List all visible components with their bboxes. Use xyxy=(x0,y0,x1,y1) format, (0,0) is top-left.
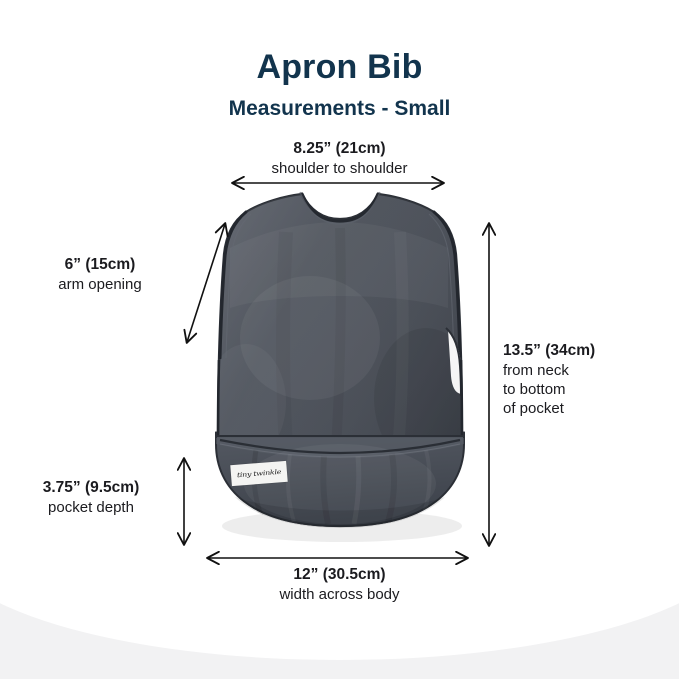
measurement-desc-width: width across body xyxy=(0,585,679,604)
measurement-diagram-page: Apron Bib Measurements - Small xyxy=(0,0,679,679)
measurement-value-arm-opening: 6” (15cm) xyxy=(10,255,190,275)
measurement-desc-neck-line-2: to bottom xyxy=(503,380,673,399)
measurement-desc-neck-line-3: of pocket xyxy=(503,399,673,418)
measurement-label-neck-to-pocket: 13.5” (34cm) from neck to bottom of pock… xyxy=(503,341,673,418)
measurement-value-neck-to-pocket: 13.5” (34cm) xyxy=(503,341,673,361)
brand-tag: tiny twinkle xyxy=(230,461,287,486)
measurement-label-width: 12” (30.5cm) width across body xyxy=(0,565,679,604)
page-title: Apron Bib xyxy=(0,48,679,87)
measurement-desc-pocket-depth: pocket depth xyxy=(5,498,177,517)
measurement-value-width: 12” (30.5cm) xyxy=(0,565,679,585)
measurement-value-shoulder: 8.25” (21cm) xyxy=(0,139,679,159)
measurement-label-pocket-depth: 3.75” (9.5cm) pocket depth xyxy=(5,478,177,517)
measurement-label-shoulder: 8.25” (21cm) shoulder to shoulder xyxy=(0,139,679,178)
brand-tag-text: tiny twinkle xyxy=(230,463,287,484)
measurement-value-pocket-depth: 3.75” (9.5cm) xyxy=(5,478,177,498)
apron-bib-illustration xyxy=(190,188,490,550)
measurement-desc-neck-line-1: from neck xyxy=(503,361,673,380)
page-subtitle: Measurements - Small xyxy=(0,97,679,121)
measurement-desc-arm-opening: arm opening xyxy=(10,275,190,294)
measurement-label-arm-opening: 6” (15cm) arm opening xyxy=(10,255,190,294)
measurement-desc-shoulder: shoulder to shoulder xyxy=(0,159,679,178)
